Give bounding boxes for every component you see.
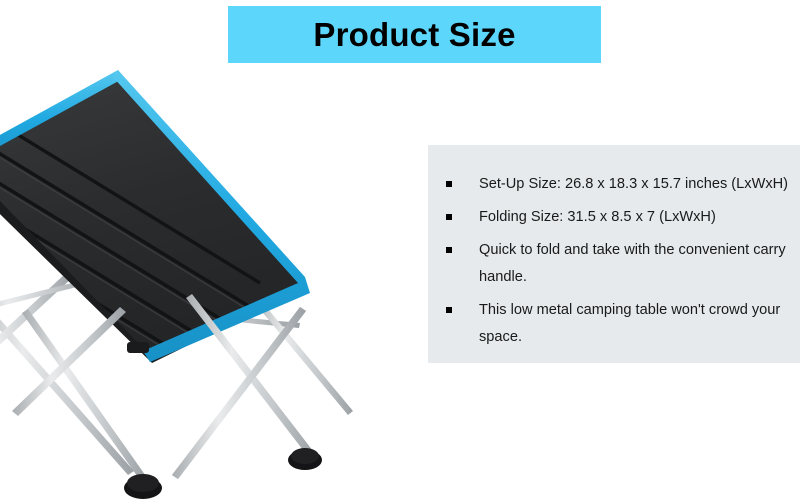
spec-item-label: Folding Size: 31.5 x 8.5 x 7 (LxWxH) — [479, 204, 796, 231]
table-top — [0, 70, 310, 467]
spec-item-label: Quick to fold and take with the convenie… — [479, 237, 796, 291]
bullet-square-icon — [446, 214, 452, 220]
spec-item: Quick to fold and take with the convenie… — [446, 237, 796, 291]
table-feet — [124, 448, 322, 499]
bullet-square-icon — [446, 247, 452, 253]
product-photo — [0, 55, 420, 500]
spec-list: Set-Up Size: 26.8 x 18.3 x 15.7 inches (… — [446, 171, 796, 357]
spec-item: This low metal camping table won't crowd… — [446, 297, 796, 351]
product-size-image: Product Size — [0, 0, 800, 500]
carry-handle — [127, 342, 149, 353]
page-title: Product Size — [313, 18, 515, 51]
spec-item: Set-Up Size: 26.8 x 18.3 x 15.7 inches (… — [446, 171, 796, 198]
camping-table-illustration — [0, 55, 420, 500]
spec-item-label: This low metal camping table won't crowd… — [479, 297, 796, 351]
bullet-square-icon — [446, 307, 452, 313]
bullet-square-icon — [446, 181, 452, 187]
spec-item: Folding Size: 31.5 x 8.5 x 7 (LxWxH) — [446, 204, 796, 231]
spec-item-label: Set-Up Size: 26.8 x 18.3 x 15.7 inches (… — [479, 171, 796, 198]
spec-panel: Set-Up Size: 26.8 x 18.3 x 15.7 inches (… — [428, 145, 800, 363]
